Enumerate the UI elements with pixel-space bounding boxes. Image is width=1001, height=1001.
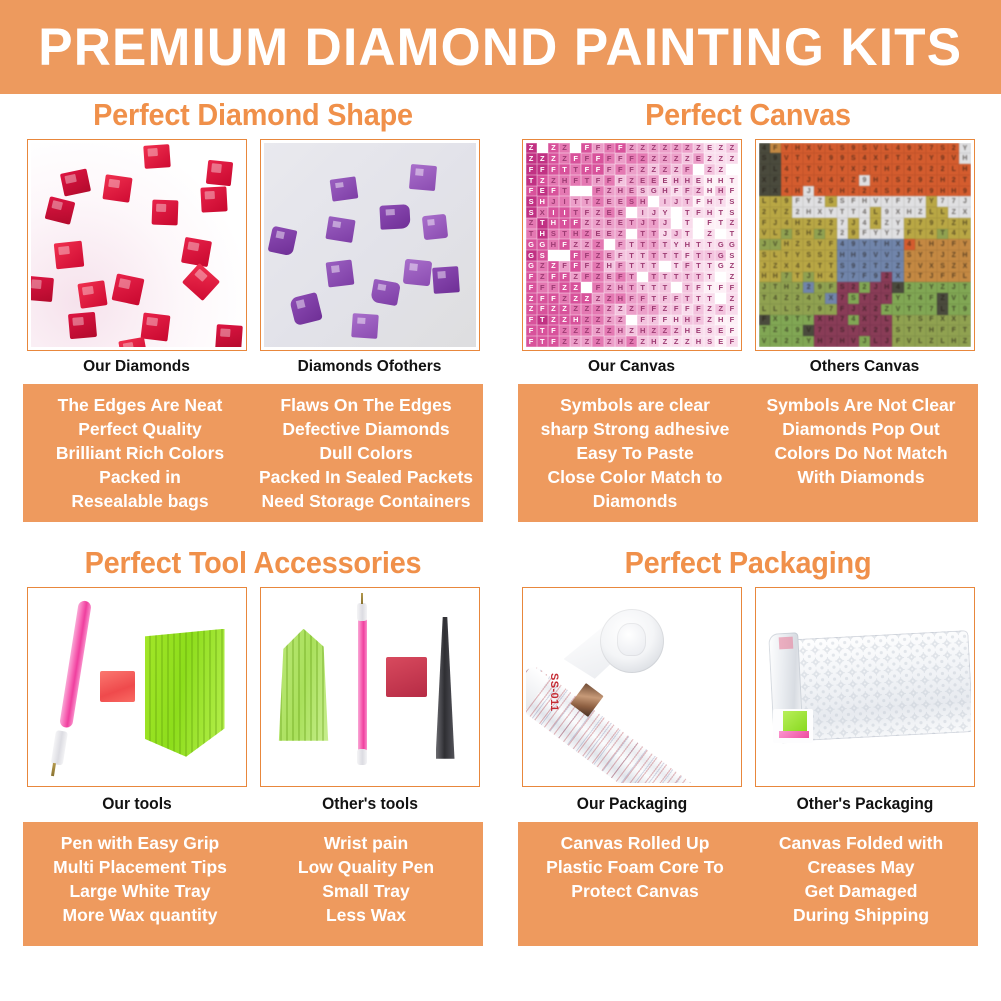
feature-item: Plastic Foam Core To [524, 855, 746, 879]
canvas-symbol-cell: S [726, 250, 737, 261]
section-diamond-shape: Perfect Diamond Shape [6, 98, 500, 522]
canvas-symbol-cell: 9 [881, 325, 892, 336]
canvas-symbol-cell: T [959, 315, 970, 326]
canvas-symbol-cell: Y [792, 250, 803, 261]
canvas-symbol-cell: 9 [915, 164, 926, 175]
feature-item: With Diamonds [750, 465, 972, 489]
canvas-symbol-cell: Y [825, 207, 836, 218]
canvas-symbol-cell: Z [592, 250, 603, 261]
canvas-symbol-cell: Z [671, 153, 682, 164]
canvas-symbol-cell: Z [726, 153, 737, 164]
canvas-symbol-cell: J [848, 218, 859, 229]
canvas-symbol-cell: H [870, 175, 881, 186]
canvas-symbol-cell: I [548, 207, 559, 218]
canvas-symbol-cell: V [904, 336, 915, 347]
canvas-symbol-cell: H [792, 143, 803, 154]
canvas-symbol-cell: 7 [825, 229, 836, 240]
canvas-symbol-cell: J [803, 186, 814, 197]
canvas-symbol-cell: 7 [926, 304, 937, 315]
canvas-symbol-cell: T [682, 218, 693, 229]
canvas-symbol-cell: T [682, 293, 693, 304]
canvas-symbol-cell: F [548, 272, 559, 283]
canvas-symbol-cell: 9 [792, 325, 803, 336]
canvas-symbol-cell: Z [537, 153, 548, 164]
canvas-symbol-cell: F [693, 164, 704, 175]
purple-deformed-diamonds-photo [264, 143, 476, 347]
canvas-symbol-cell: F [926, 293, 937, 304]
canvas-symbol-cell: Z [615, 229, 626, 240]
feature-item: Large White Tray [29, 879, 251, 903]
canvas-symbol-cell: F [615, 272, 626, 283]
canvas-symbol-cell: Z [604, 315, 615, 326]
canvas-symbol-cell: T [726, 229, 737, 240]
canvas-symbol-cell: F [759, 164, 770, 175]
canvas-symbol-cell: 7 [837, 315, 848, 326]
canvas-symbol-cell: T [626, 282, 637, 293]
canvas-symbol-cell: E [715, 336, 726, 347]
canvas-symbol-cell: F [592, 282, 603, 293]
canvas-symbol-cell: Z [671, 143, 682, 154]
canvas-symbol-cell: 4 [770, 336, 781, 347]
canvas-symbol-cell: F [526, 164, 537, 175]
canvas-symbol-cell: F [759, 186, 770, 197]
canvas-symbol-cell: T [915, 272, 926, 283]
canvas-symbol-cell: 2 [926, 164, 937, 175]
canvas-symbol-cell: T [659, 272, 670, 283]
canvas-symbol-cell: S [726, 207, 737, 218]
canvas-symbol-cell: H [570, 229, 581, 240]
canvas-symbol-cell: T [892, 315, 903, 326]
canvas-symbol-cell: S [915, 315, 926, 326]
canvas-symbol-cell: V [870, 250, 881, 261]
canvas-symbol-cell: F [904, 186, 915, 197]
canvas-symbol-cell: Z [559, 282, 570, 293]
canvas-symbol-cell: E [604, 239, 615, 250]
canvas-symbol-cell: H [792, 186, 803, 197]
canvas-symbol-cell: E [715, 325, 726, 336]
feature-item: More Wax quantity [29, 903, 251, 927]
canvas-symbol-cell: Z [615, 315, 626, 326]
canvas-symbol-cell: X [926, 261, 937, 272]
canvas-symbol-cell: F [770, 175, 781, 186]
canvas-symbol-cell: X [892, 239, 903, 250]
canvas-symbol-cell: S [548, 229, 559, 240]
canvas-symbol-cell: Z [693, 143, 704, 154]
canvas-symbol-cell: J [671, 196, 682, 207]
canvas-symbol-cell: V [814, 143, 825, 154]
canvas-symbol-cell: F [615, 164, 626, 175]
canvas-symbol-cell: 2 [904, 282, 915, 293]
canvas-symbol-cell: F [715, 272, 726, 283]
canvas-symbol-cell: Y [915, 196, 926, 207]
canvas-symbol-cell: T [693, 229, 704, 240]
canvas-symbol-cell: Z [548, 250, 559, 261]
photo-frame-our-canvas: ZZZZZFFFFZZZZZZZEZZZZZZFFFFFFZZZZZEZZZFF… [522, 139, 742, 351]
canvas-symbol-cell: T [570, 164, 581, 175]
canvas-symbol-cell: V [814, 164, 825, 175]
canvas-symbol-cell: 7 [837, 293, 848, 304]
feature-item: Small Tray [255, 879, 477, 903]
canvas-symbol-cell: 4 [759, 143, 770, 154]
canvas-symbol-cell: 7 [926, 143, 937, 154]
photo-frame-other-packaging [755, 587, 975, 787]
canvas-symbol-cell: T [570, 186, 581, 197]
canvas-symbol-cell: S [759, 250, 770, 261]
canvas-symbol-cell: 9 [959, 304, 970, 315]
canvas-symbol-cell: E [693, 325, 704, 336]
canvas-symbol-cell: S [837, 261, 848, 272]
canvas-symbol-cell: Y [892, 293, 903, 304]
canvas-symbol-cell: F [615, 175, 626, 186]
canvas-symbol-cell: Y [926, 153, 937, 164]
canvas-symbol-cell: T [559, 229, 570, 240]
comparison-pair-tools: Our tools [6, 587, 500, 814]
canvas-symbol-cell: Y [803, 196, 814, 207]
canvas-symbol-cell: L [937, 304, 948, 315]
canvas-symbol-cell: E [604, 250, 615, 261]
canvas-symbol-cell: T [648, 282, 659, 293]
canvas-symbol-cell: Z [537, 175, 548, 186]
canvas-symbol-cell: 4 [859, 218, 870, 229]
canvas-symbol-cell: S [859, 143, 870, 154]
canvas-symbol-cell: T [648, 239, 659, 250]
canvas-symbol-cell: 9 [781, 315, 792, 326]
canvas-symbol-cell: 2 [881, 272, 892, 283]
canvas-symbol-cell: T [792, 315, 803, 326]
canvas-symbol-cell: S [892, 325, 903, 336]
canvas-symbol-cell: T [704, 282, 715, 293]
canvas-symbol-cell: Z [604, 325, 615, 336]
canvas-symbol-cell: F [948, 239, 959, 250]
section-canvas: Perfect Canvas ZZZZZFFFFZZZZZZZEZZZZZZFF… [501, 98, 995, 522]
canvas-symbol-cell: E [648, 175, 659, 186]
canvas-symbol-cell: H [682, 239, 693, 250]
canvas-symbol-cell: F [548, 293, 559, 304]
canvas-symbol-cell: T [825, 261, 836, 272]
canvas-symbol-cell: X [859, 304, 870, 315]
canvas-symbol-cell: 7 [948, 196, 959, 207]
canvas-symbol-cell: 9 [848, 239, 859, 250]
canvas-symbol-cell: 4 [781, 164, 792, 175]
canvas-symbol-cell: H [959, 218, 970, 229]
canvas-symbol-cell: Z [537, 143, 548, 154]
canvas-symbol-cell: F [581, 143, 592, 154]
canvas-symbol-cell: 9 [837, 153, 848, 164]
canvas-symbol-cell: Y [848, 325, 859, 336]
canvas-symbol-cell: F [570, 261, 581, 272]
canvas-symbol-cell: L [959, 272, 970, 283]
canvas-symbol-cell: Z [892, 261, 903, 272]
canvas-symbol-cell: Z [592, 304, 603, 315]
canvas-symbol-cell: G [715, 239, 726, 250]
canvas-symbol-cell: F [548, 336, 559, 347]
canvas-symbol-cell: T [715, 229, 726, 240]
canvas-symbol-cell: Z [726, 272, 737, 283]
canvas-symbol-cell: 2 [870, 325, 881, 336]
canvas-symbol-cell: T [792, 175, 803, 186]
canvas-symbol-cell: F [682, 261, 693, 272]
canvas-symbol-cell: H [615, 186, 626, 197]
canvas-symbol-cell: F [559, 239, 570, 250]
canvas-symbol-cell: F [726, 304, 737, 315]
canvas-symbol-cell: Z [814, 196, 825, 207]
canvas-symbol-cell: F [581, 207, 592, 218]
canvas-symbol-cell: T [537, 325, 548, 336]
canvas-symbol-cell: Z [659, 336, 670, 347]
canvas-symbol-cell: Y [892, 218, 903, 229]
canvas-symbol-cell: L [881, 143, 892, 154]
canvas-symbol-cell: F [604, 153, 615, 164]
canvas-symbol-cell: 2 [781, 229, 792, 240]
canvas-symbol-cell: S [814, 250, 825, 261]
feature-item: Brilliant Rich Colors [29, 441, 251, 465]
infographic-page: PREMIUM DIAMOND PAINTING KITS Perfect Di… [0, 0, 1001, 1001]
canvas-symbol-cell: 2 [848, 282, 859, 293]
canvas-symbol-cell: H [682, 315, 693, 326]
canvas-symbol-cell: L [937, 207, 948, 218]
canvas-symbol-cell: T [937, 229, 948, 240]
tube-end-cap [600, 609, 664, 673]
canvas-symbol-cell: E [604, 218, 615, 229]
canvas-symbol-cell: 9 [825, 153, 836, 164]
canvas-symbol-cell: F [559, 261, 570, 272]
canvas-symbol-cell: F [559, 272, 570, 283]
canvas-symbol-cell: S [892, 175, 903, 186]
canvas-symbol-cell: T [682, 272, 693, 283]
canvas-symbol-cell: T [715, 207, 726, 218]
canvas-symbol-cell: H [604, 261, 615, 272]
canvas-symbol-cell: J [803, 175, 814, 186]
canvas-symbol-cell: S [904, 250, 915, 261]
canvas-symbol-cell: 2 [792, 293, 803, 304]
canvas-symbol-cell: 9 [770, 153, 781, 164]
canvas-symbol-cell: 4 [825, 272, 836, 283]
canvas-symbol-cell: Y [926, 282, 937, 293]
canvas-symbol-cell: V [915, 261, 926, 272]
canvas-symbol-cell: Z [659, 164, 670, 175]
feature-item: Easy To Paste [524, 441, 746, 465]
canvas-symbol-cell: E [615, 218, 626, 229]
canvas-symbol-cell: X [870, 153, 881, 164]
canvas-symbol-cell: F [682, 164, 693, 175]
green-tray-shape [145, 629, 225, 757]
canvas-symbol-cell: 7 [892, 229, 903, 240]
canvas-symbol-cell: X [781, 261, 792, 272]
canvas-symbol-cell: 2 [948, 143, 959, 154]
canvas-symbol-cell: T [526, 229, 537, 240]
canvas-symbol-cell: 4 [792, 261, 803, 272]
canvas-symbol-cell: E [659, 175, 670, 186]
canvas-symbol-cell: T [693, 239, 704, 250]
canvas-symbol-cell: X [892, 272, 903, 283]
canvas-symbol-cell: T [671, 272, 682, 283]
canvas-symbol-cell: V [870, 196, 881, 207]
canvas-symbol-cell: H [937, 175, 948, 186]
canvas-symbol-cell: T [704, 239, 715, 250]
small-tray-pen-wax-tweezers-photo [264, 591, 476, 783]
canvas-symbol-cell: Z [948, 250, 959, 261]
canvas-symbol-cell: 4 [825, 175, 836, 186]
feature-item: Creases May [750, 855, 972, 879]
canvas-symbol-cell: H [659, 186, 670, 197]
canvas-symbol-cell: Z [537, 272, 548, 283]
canvas-symbol-cell: T [781, 250, 792, 261]
canvas-symbol-cell: Z [659, 143, 670, 154]
canvas-symbol-cell: Z [570, 282, 581, 293]
canvas-symbol-cell: T [682, 282, 693, 293]
canvas-symbol-cell: T [537, 218, 548, 229]
canvas-symbol-cell: L [770, 250, 781, 261]
canvas-symbol-cell: Z [548, 315, 559, 326]
canvas-symbol-cell: 4 [870, 218, 881, 229]
feature-list-ours-tools: Pen with Easy Grip Multi Placement Tips … [27, 831, 253, 937]
canvas-symbol-cell: S [837, 282, 848, 293]
canvas-symbol-cell: F [604, 175, 615, 186]
section-title-canvas: Perfect Canvas [518, 98, 977, 133]
canvas-symbol-cell: Y [781, 143, 792, 154]
canvas-symbol-cell: 7 [904, 196, 915, 207]
canvas-symbol-cell: T [682, 229, 693, 240]
canvas-symbol-cell: F [759, 315, 770, 326]
canvas-symbol-cell: V [770, 239, 781, 250]
canvas-symbol-cell: I [559, 207, 570, 218]
canvas-symbol-cell: F [626, 164, 637, 175]
canvas-symbol-cell: T [537, 336, 548, 347]
canvas-symbol-cell: F [637, 304, 648, 315]
canvas-symbol-cell: S [937, 261, 948, 272]
canvas-symbol-cell: F [726, 315, 737, 326]
canvas-symbol-cell: T [693, 250, 704, 261]
canvas-symbol-cell: V [892, 304, 903, 315]
canvas-symbol-cell: Z [682, 143, 693, 154]
canvas-symbol-cell: Z [570, 239, 581, 250]
feature-item: Diamonds [524, 489, 746, 513]
canvas-symbol-cell: Z [682, 153, 693, 164]
canvas-symbol-cell: F [659, 315, 670, 326]
canvas-symbol-cell: J [659, 218, 670, 229]
comparison-cell-other-packaging: Other's Packaging [755, 587, 975, 814]
feature-panel-packaging: Canvas Rolled Up Plastic Foam Core To Pr… [518, 822, 978, 946]
feature-list-ours-canvas: Symbols are clear sharp Strong adhesive … [522, 393, 748, 514]
canvas-symbol-cell: F [626, 153, 637, 164]
small-green-tray-shape [276, 629, 332, 741]
canvas-symbol-cell: T [559, 218, 570, 229]
canvas-symbol-cell: H [615, 336, 626, 347]
canvas-symbol-cell: Y [671, 207, 682, 218]
canvas-symbol-cell: V [781, 153, 792, 164]
caption-other-diamonds: Diamonds Ofothers [260, 351, 480, 376]
canvas-symbol-cell: H [704, 196, 715, 207]
canvas-symbol-cell: G [715, 250, 726, 261]
canvas-symbol-cell: Z [526, 293, 537, 304]
white-bubble-mailer-envelope-photo [759, 591, 971, 783]
feature-list-ours-diamond-shape: The Edges Are Neat Perfect Quality Brill… [27, 393, 253, 514]
canvas-symbol-cell: T [637, 272, 648, 283]
canvas-symbol-cell: Z [559, 250, 570, 261]
canvas-symbol-cell: Z [559, 293, 570, 304]
canvas-symbol-cell: G [726, 239, 737, 250]
canvas-symbol-cell: 4 [848, 315, 859, 326]
canvas-symbol-cell: F [937, 325, 948, 336]
canvas-symbol-cell: J [892, 250, 903, 261]
canvas-symbol-cell: X [959, 261, 970, 272]
canvas-symbol-cell: Z [648, 143, 659, 154]
feature-item: Canvas Folded with [750, 831, 972, 855]
canvas-symbol-cell: F [615, 143, 626, 154]
canvas-symbol-cell: L [759, 196, 770, 207]
canvas-symbol-cell: Z [770, 325, 781, 336]
canvas-symbol-cell: T [848, 207, 859, 218]
canvas-symbol-cell: H [537, 229, 548, 240]
canvas-symbol-cell: Z [948, 218, 959, 229]
canvas-symbol-cell: 9 [870, 272, 881, 283]
canvas-symbol-cell: S [803, 250, 814, 261]
canvas-symbol-cell: F [548, 282, 559, 293]
canvas-symbol-cell: 9 [904, 143, 915, 154]
canvas-symbol-cell: T [559, 186, 570, 197]
canvas-symbol-cell: T [637, 282, 648, 293]
canvas-symbol-cell: Z [581, 218, 592, 229]
canvas-symbol-cell: H [548, 239, 559, 250]
canvas-symbol-cell: J [770, 218, 781, 229]
canvas-symbol-cell: T [637, 250, 648, 261]
canvas-symbol-cell: F [537, 282, 548, 293]
canvas-symbol-cell: T [715, 196, 726, 207]
canvas-symbol-cell: Z [926, 175, 937, 186]
canvas-symbol-cell: S [526, 196, 537, 207]
canvas-symbol-cell: 2 [825, 250, 836, 261]
canvas-symbol-cell: E [637, 175, 648, 186]
canvas-symbol-cell: J [792, 282, 803, 293]
canvas-symbol-cell: Z [915, 207, 926, 218]
canvas-symbol-cell: Z [671, 336, 682, 347]
canvas-symbol-cell: J [870, 282, 881, 293]
canvas-symbol-cell: X [959, 207, 970, 218]
canvas-symbol-cell: J [759, 239, 770, 250]
canvas-symbol-cell: Z [770, 261, 781, 272]
pink-pen-wax-large-green-tray-photo [31, 591, 243, 783]
canvas-symbol-cell: F [693, 196, 704, 207]
canvas-symbol-cell: Z [626, 143, 637, 154]
canvas-symbol-cell: T [803, 164, 814, 175]
canvas-symbol-cell: G [526, 239, 537, 250]
canvas-symbol-cell: Y [959, 143, 970, 154]
canvas-symbol-cell: F [581, 164, 592, 175]
canvas-symbol-cell: 4 [892, 282, 903, 293]
canvas-symbol-cell: 9 [814, 304, 825, 315]
canvas-symbol-cell: T [671, 261, 682, 272]
canvas-symbol-cell: T [792, 153, 803, 164]
canvas-symbol-cell: T [659, 250, 670, 261]
canvas-symbol-cell: F [526, 315, 537, 326]
canvas-symbol-cell: X [814, 186, 825, 197]
canvas-symbol-cell: J [881, 175, 892, 186]
canvas-symbol-cell: 7 [837, 218, 848, 229]
feature-item: The Edges Are Neat [29, 393, 251, 417]
canvas-symbol-cell: V [948, 153, 959, 164]
canvas-symbol-cell: S [526, 207, 537, 218]
feature-item: Get Damaged [750, 879, 972, 903]
canvas-symbol-cell: H [792, 218, 803, 229]
canvas-symbol-cell: 9 [915, 175, 926, 186]
comparison-pair-canvas: ZZZZZFFFFZZZZZZZEZZZZZZFFFFFFZZZZZEZZZFF… [501, 139, 995, 376]
canvas-symbol-cell: J [671, 229, 682, 240]
canvas-symbol-cell: I [659, 196, 670, 207]
canvas-symbol-cell: T [870, 261, 881, 272]
canvas-symbol-cell: F [726, 336, 737, 347]
canvas-symbol-cell: E [592, 229, 603, 240]
canvas-symbol-cell: L [825, 143, 836, 154]
